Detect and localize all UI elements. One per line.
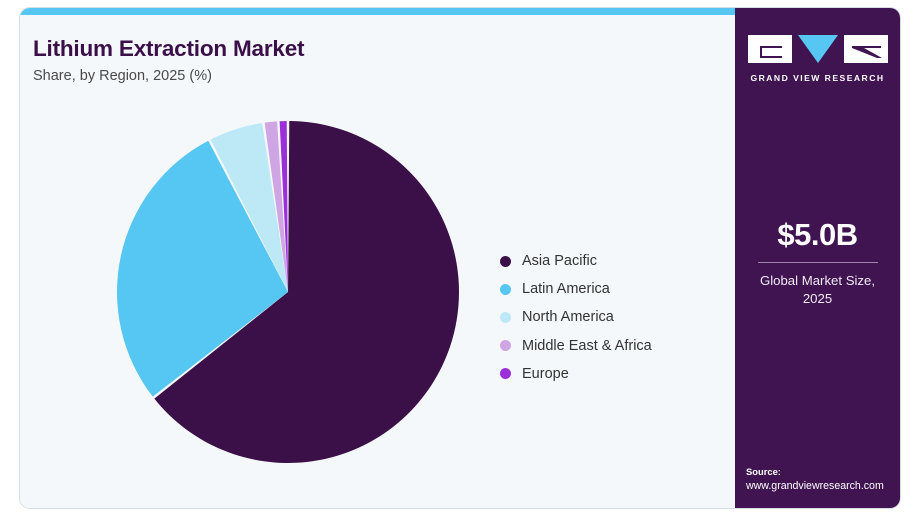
market-size-stat: $5.0B Global Market Size, 2025 [735,218,900,308]
chart-subtitle: Share, by Region, 2025 (%) [33,68,633,85]
pie-chart-svg [117,121,459,463]
pie-chart [117,121,459,463]
pie-slice-group [117,121,459,463]
brand-logo: GRAND VIEW RESEARCH [735,34,900,83]
legend-swatch-icon [500,256,511,267]
legend-item[interactable]: North America [500,303,725,331]
gvr-logo-r-mark [844,35,888,63]
gvr-logo-marks [748,34,888,64]
legend-item[interactable]: Latin America [500,275,725,303]
brand-wordmark: GRAND VIEW RESEARCH [735,73,900,83]
source-block: Source: www.grandviewresearch.com [746,465,900,494]
chart-legend: Asia PacificLatin AmericaNorth AmericaMi… [500,247,725,388]
infographic-card: Lithium Extraction Market Share, by Regi… [20,8,900,508]
market-size-value: $5.0B [735,218,900,252]
brand-sidebar: GRAND VIEW RESEARCH $5.0B Global Market … [735,8,900,508]
legend-item-label: Europe [522,366,569,382]
market-size-caption: Global Market Size, 2025 [735,272,900,308]
legend-item-label: North America [522,309,614,325]
legend-item-label: Middle East & Africa [522,338,652,354]
legend-item[interactable]: Asia Pacific [500,247,725,275]
legend-swatch-icon [500,368,511,379]
gvr-logo-v-mark [798,35,838,63]
legend-swatch-icon [500,284,511,295]
legend-swatch-icon [500,312,511,323]
source-url: www.grandviewresearch.com [746,479,900,494]
legend-item-label: Asia Pacific [522,253,597,269]
gvr-logo-g-mark [748,35,792,63]
legend-item[interactable]: Middle East & Africa [500,332,725,360]
legend-item-label: Latin America [522,281,610,297]
legend-swatch-icon [500,340,511,351]
legend-item[interactable]: Europe [500,360,725,388]
page-title: Lithium Extraction Market [33,36,633,62]
source-label: Source: [746,465,900,479]
stat-divider [758,262,878,263]
chart-area: Lithium Extraction Market Share, by Regi… [20,15,735,508]
title-block: Lithium Extraction Market Share, by Regi… [33,36,633,85]
